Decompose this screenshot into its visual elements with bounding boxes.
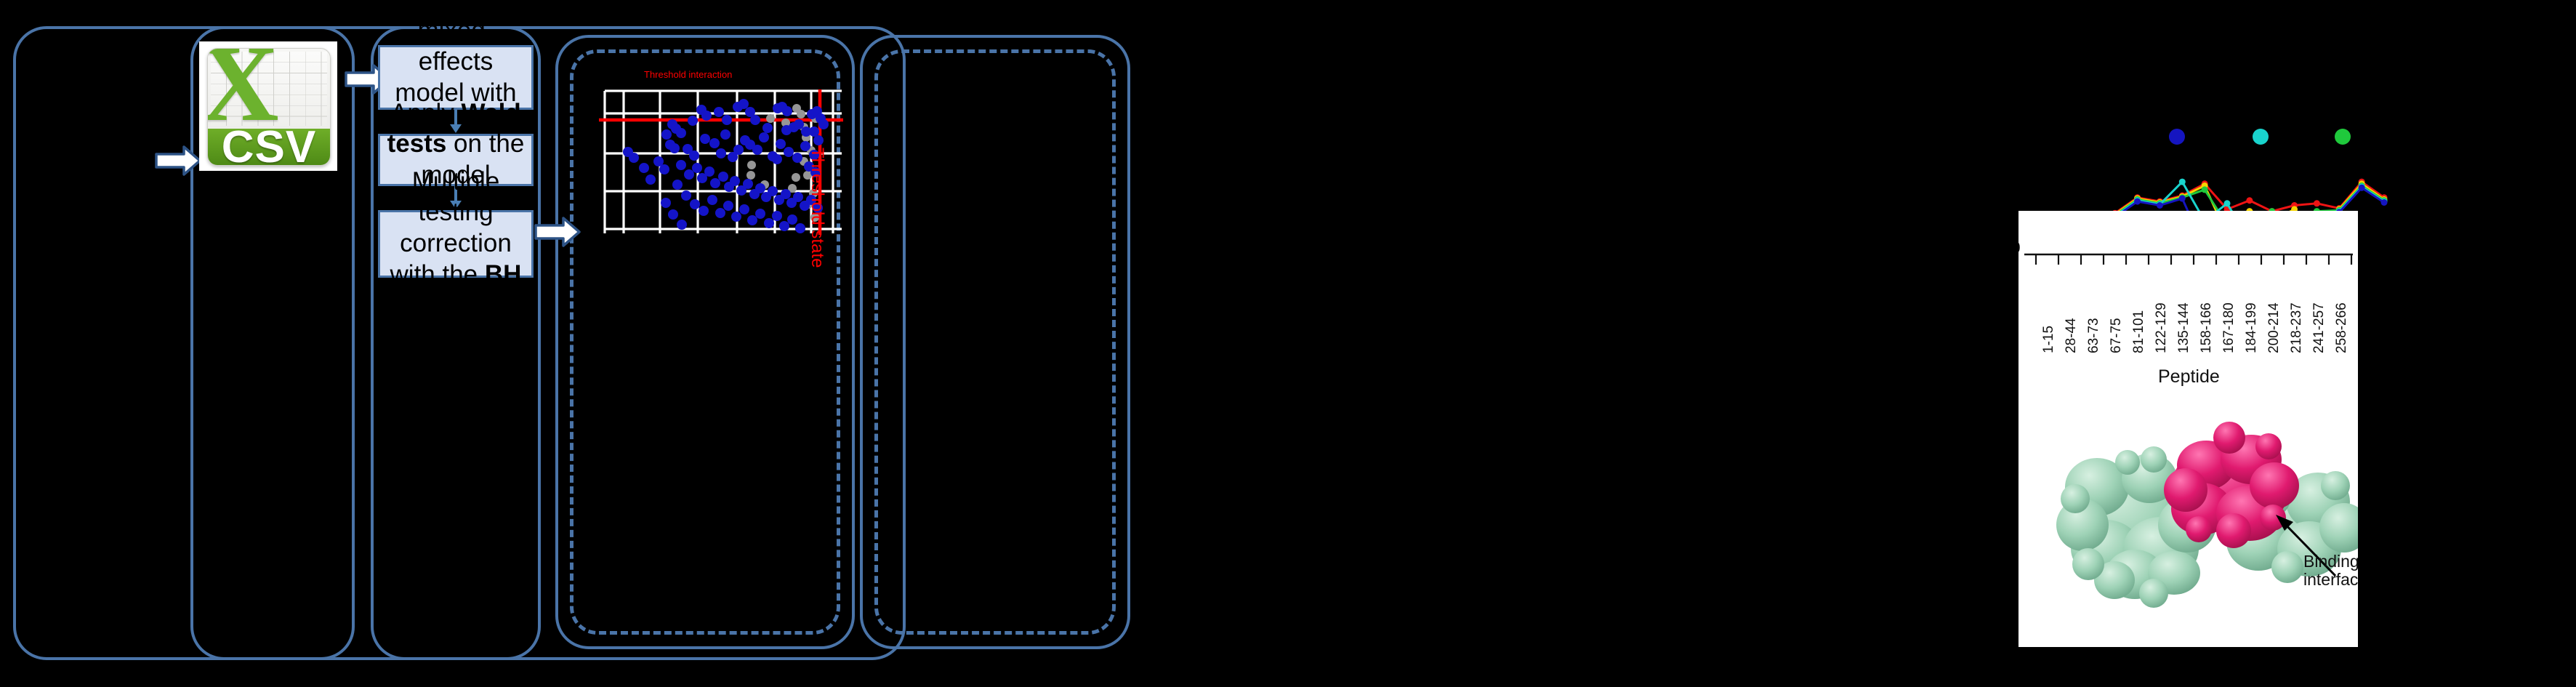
point-series-blue-81-101 (2157, 202, 2163, 209)
peptide-tick-158-166: 158-166 (2199, 302, 2215, 353)
step-bh-text: Multiple testing correction with the BH … (386, 166, 526, 321)
peptide-tick-1-15: 1-15 (2041, 326, 2057, 353)
point-series-red-167-180 (2246, 197, 2253, 204)
peptide-tick-135-144: 135-144 (2176, 302, 2192, 353)
arrow-into-data-icon (155, 145, 201, 177)
peptide-tick-241-257: 241-257 (2311, 302, 2327, 353)
point-series-red-218-237 (2314, 200, 2320, 206)
peptide-tick-63-73: 63-73 (2086, 318, 2102, 353)
point-series-cyan-122-129 (2179, 179, 2186, 185)
csv-file-card: X CSV (199, 41, 337, 171)
binding-interface-line1: Binding (2303, 553, 2358, 571)
legend-dot-cyan (2253, 129, 2269, 145)
peptide-tick-218-237: 218-237 (2289, 302, 2305, 353)
binding-interface-line2: interface (2303, 571, 2358, 589)
peptide-tick-184-199: 184-199 (2244, 302, 2260, 353)
protein-structure-figure (2018, 393, 2358, 632)
peptide-tick-28-44: 28-44 (2064, 318, 2080, 353)
point-series-green-135-144 (2202, 186, 2208, 193)
peptide-tick-167-180: 167-180 (2221, 302, 2237, 353)
point-series-blue-122-129 (2179, 196, 2186, 202)
legend-dot-green (2335, 129, 2351, 145)
csv-extension-label: CSV (208, 129, 329, 165)
point-series-cyan-158-166 (2224, 200, 2231, 206)
peptide-x-axis-svg (2018, 252, 2358, 270)
point-series-blue-258-266 (2359, 185, 2365, 191)
peptide-tick-122-129: 122-129 (2154, 302, 2170, 353)
legend-dot-blue (2169, 129, 2185, 145)
peptide-tick-277-284: 277-284 (2356, 302, 2358, 353)
point-series-blue-277-284 (2381, 199, 2388, 206)
peptide-tick-81-101: 81-101 (2131, 310, 2147, 353)
peptide-result-stage-box (860, 35, 1130, 649)
scatter-plot-svg (596, 89, 843, 235)
peptide-figure-card: 0.0 1-1528-4463-7367-7581-101122-129135-… (2018, 211, 2358, 647)
peptide-tick-200-214: 200-214 (2266, 302, 2282, 353)
scatter-plot-panel: Threshold interaction (596, 69, 843, 236)
peptide-tick-67-75: 67-75 (2109, 318, 2125, 353)
x-axis-title: Peptide (2158, 366, 2220, 387)
point-series-blue-67-75 (2134, 198, 2141, 205)
csv-file-icon: X CSV (207, 48, 330, 166)
excel-x-icon: X (211, 51, 265, 116)
threshold-interaction-label: Threshold interaction (644, 69, 732, 80)
threshold-state-label: Threshold state (807, 148, 827, 268)
arrow-analysis-to-results-icon (534, 216, 581, 248)
binding-interface-annotation: Binding interface (2303, 553, 2358, 590)
step-bh-box[interactable]: Multiple testing correction with the BH … (378, 210, 534, 278)
peptide-tick-258-266: 258-266 (2334, 302, 2350, 353)
